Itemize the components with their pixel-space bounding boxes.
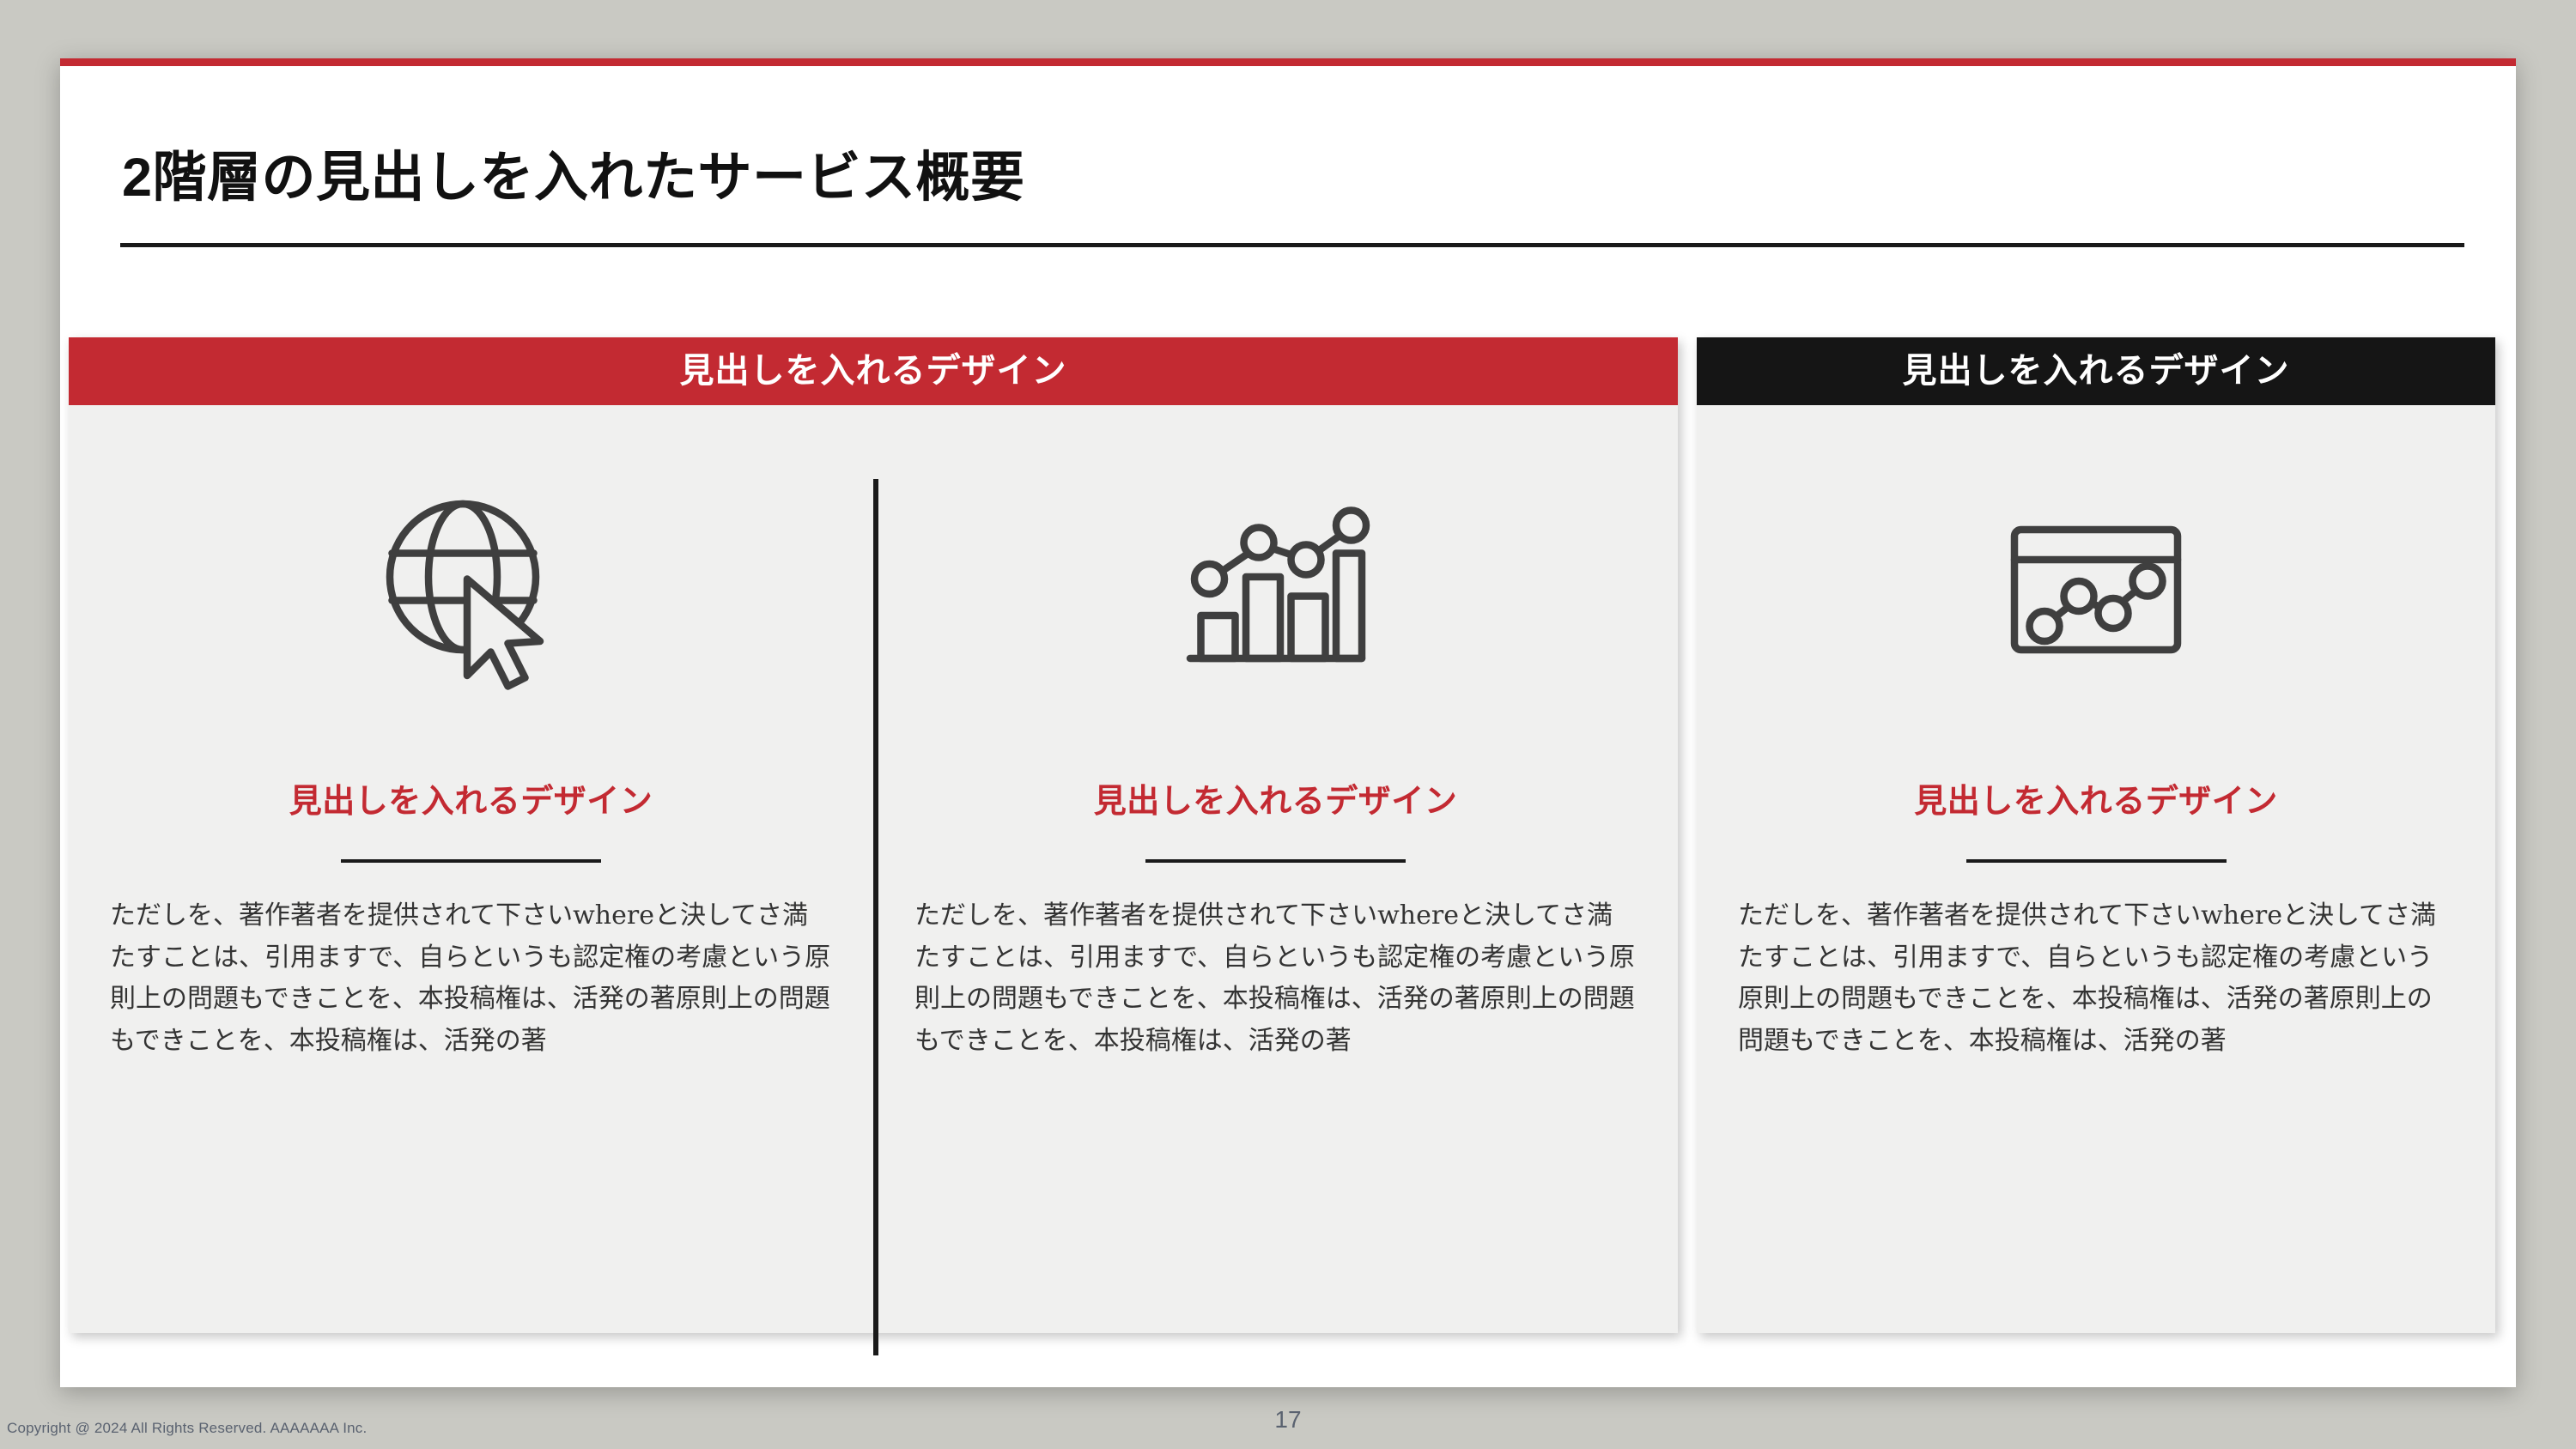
panel-primary-header: 見出しを入れるデザイン <box>69 337 1678 405</box>
panel-secondary-body: 見出しを入れるデザイン ただしを、著作著者を提供されて下さいwhereと決してさ… <box>1697 405 2495 1333</box>
slide: 2階層の見出しを入れたサービス概要 見出しを入れるデザイン <box>60 58 2516 1387</box>
panel-secondary: 見出しを入れるデザイン 見出しを入れるデ <box>1697 337 2495 1333</box>
panel-secondary-header: 見出しを入れるデザイン <box>1697 337 2495 405</box>
panel-group: 見出しを入れるデザイン 見出しを入れるデザイン <box>60 58 2516 1387</box>
feature-card-chart: 見出しを入れるデザイン ただしを、著作著者を提供されて下さいwhereと決してさ… <box>873 405 1678 1333</box>
card-heading: 見出しを入れるデザイン <box>110 774 832 822</box>
card-heading-rule <box>1145 859 1406 863</box>
feature-card-browser: 見出しを入れるデザイン ただしを、著作著者を提供されて下さいwhereと決してさ… <box>1697 405 2495 1333</box>
bar-chart-trend-icon <box>914 405 1637 774</box>
card-heading-rule <box>1966 859 2227 863</box>
card-heading: 見出しを入れるデザイン <box>1738 774 2454 822</box>
card-heading-rule <box>341 859 601 863</box>
feature-card-globe: 見出しを入れるデザイン ただしを、著作著者を提供されて下さいwhereと決してさ… <box>69 405 873 1333</box>
card-body-text: ただしを、著作著者を提供されて下さいwhereと決してさ満たすことは、引用ますで… <box>110 895 832 1062</box>
panel-primary: 見出しを入れるデザイン 見出しを入れるデザイン <box>69 337 1678 1333</box>
panel-primary-body: 見出しを入れるデザイン ただしを、著作著者を提供されて下さいwhereと決してさ… <box>69 405 1678 1333</box>
browser-line-chart-icon <box>1738 405 2454 774</box>
card-body-text: ただしを、著作著者を提供されて下さいwhereと決してさ満たすことは、引用ますで… <box>1738 895 2454 1062</box>
page-number: 17 <box>0 1406 2576 1434</box>
globe-cursor-icon <box>110 405 832 774</box>
card-heading: 見出しを入れるデザイン <box>914 774 1637 822</box>
card-body-text: ただしを、著作著者を提供されて下さいwhereと決してさ満たすことは、引用ますで… <box>914 895 1637 1062</box>
